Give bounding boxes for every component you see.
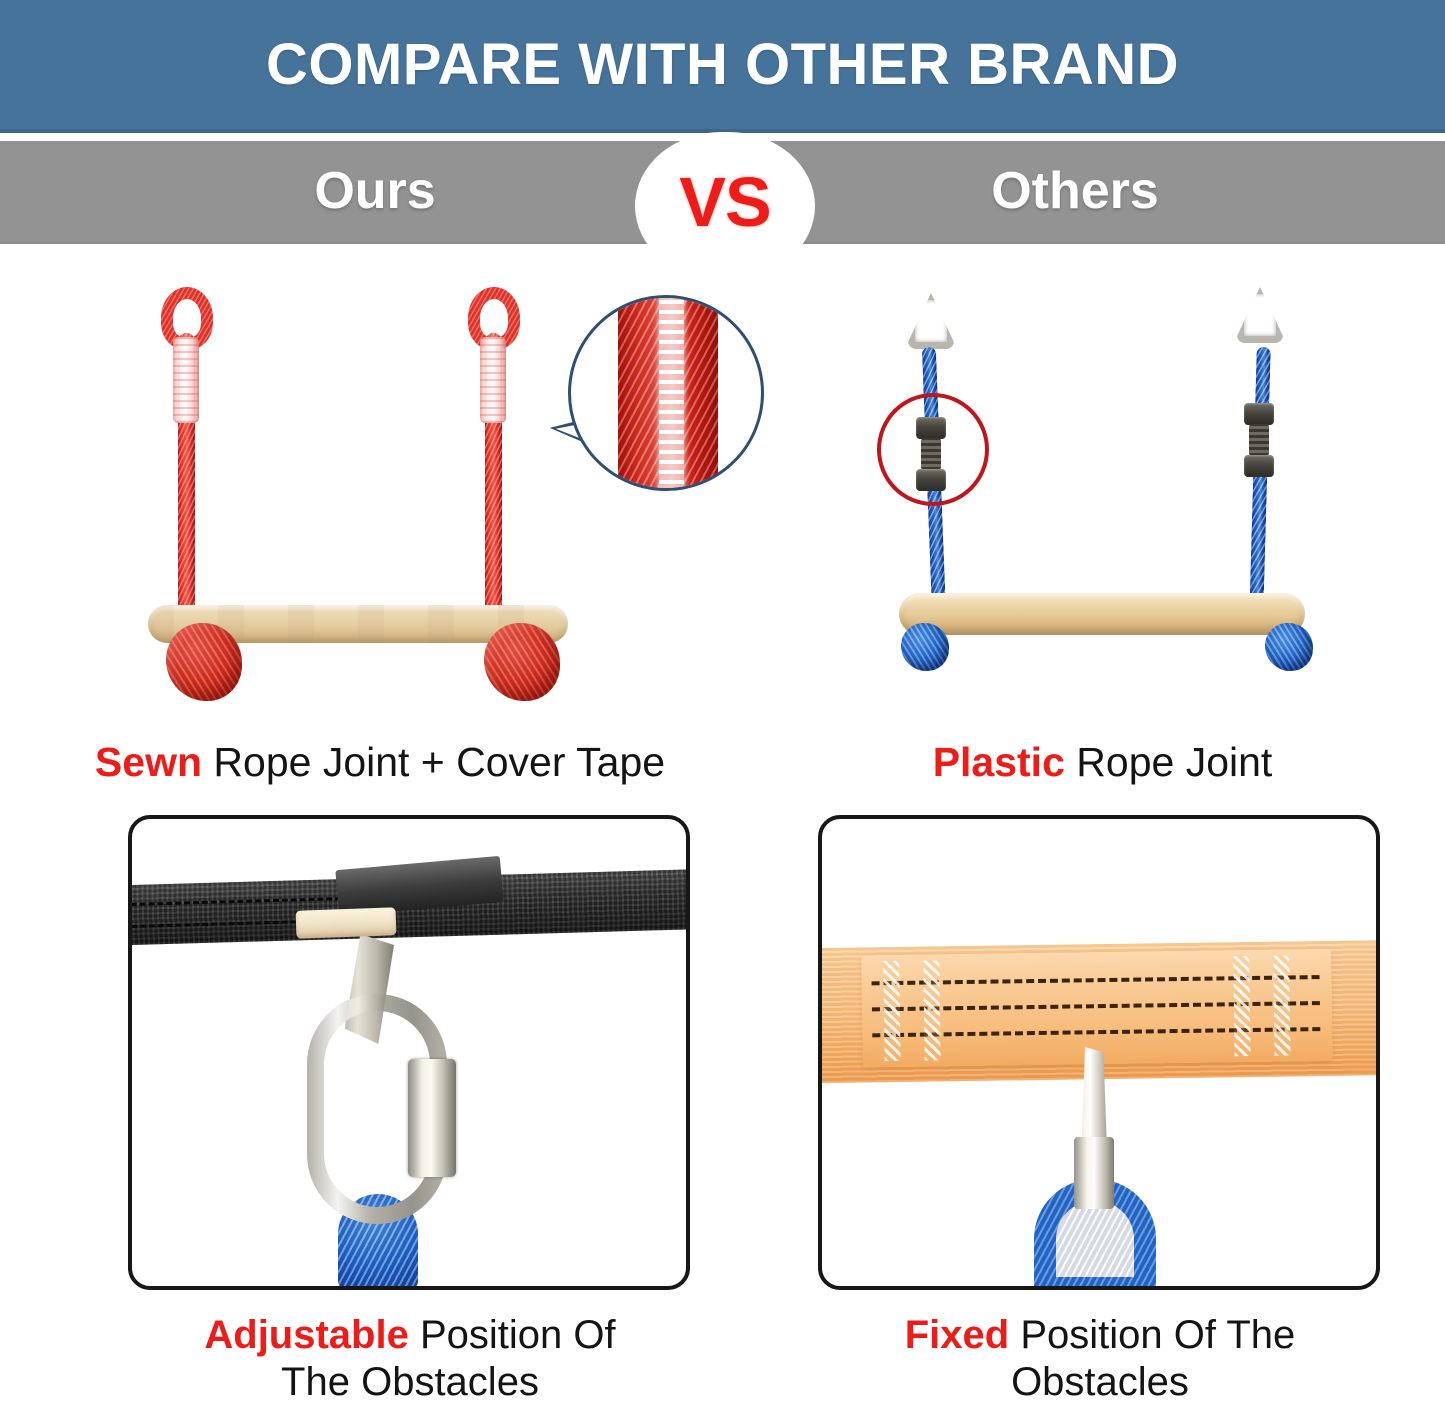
header-banner: COMPARE WITH OTHER BRAND: [0, 0, 1445, 133]
caption-others-position-line2: Obstacles: [1011, 1360, 1189, 1404]
triangle-carabiner-right: [1237, 287, 1283, 343]
blue-rope-knot-left: [901, 623, 949, 671]
caption-others-rest: Rope Joint: [1065, 739, 1272, 785]
caption-ours-rest: Rope Joint + Cover Tape: [202, 739, 665, 785]
red-circle-highlight: [877, 393, 989, 506]
column-label-others: Others: [850, 141, 1300, 241]
product-comparison-row: [0, 255, 1445, 725]
orange-zigzag-stitch-2: [923, 960, 940, 1060]
cover-tape-left: [173, 337, 199, 423]
orange-sewn-patch: [861, 949, 1333, 1068]
caption-ours-position-highlight: Adjustable: [204, 1313, 408, 1357]
cover-tape-right: [480, 337, 506, 423]
small-clip-screw-nut: [1074, 1137, 1114, 1209]
blue-rope-knot-right: [1265, 623, 1313, 671]
orange-zigzag-stitch-4: [1273, 955, 1290, 1055]
callout-stitching-detail: [659, 295, 684, 491]
others-detail-photo-panel: [818, 815, 1380, 1290]
caption-others-position-rest: Position Of The: [1009, 1313, 1295, 1357]
orange-zigzag-stitch-1: [883, 961, 900, 1061]
vs-badge: VS: [635, 132, 815, 280]
page-title: COMPARE WITH OTHER BRAND: [266, 36, 1179, 94]
callout-circle: [568, 295, 764, 491]
infographic-page: COMPARE WITH OTHER BRAND Ours Others VS: [0, 0, 1445, 1407]
column-label-ours: Ours: [150, 141, 600, 241]
caption-ours-position-rest: Position Of: [409, 1313, 616, 1357]
red-rope-knot-left: [166, 623, 242, 701]
caption-others-highlight: Plastic: [933, 739, 1065, 785]
caption-others-rope-joint: Plastic Rope Joint: [760, 740, 1445, 786]
caption-others-position-highlight: Fixed: [905, 1313, 1009, 1357]
sewn-joint-magnified-callout: [550, 295, 765, 510]
caption-others-position: Fixed Position Of The Obstacles: [810, 1312, 1390, 1406]
caption-ours-highlight: Sewn: [95, 739, 202, 785]
red-rope-knot-right: [484, 623, 560, 701]
caption-ours-position: Adjustable Position Of The Obstacles: [110, 1312, 710, 1406]
vs-label: VS: [679, 167, 770, 237]
ours-product-image: [140, 275, 760, 725]
caption-ours-position-line2: The Obstacles: [281, 1360, 539, 1404]
wooden-adjuster-peg: [296, 907, 397, 938]
triangle-carabiner-left: [908, 293, 954, 349]
wooden-bar-others: [899, 593, 1305, 635]
others-product-image: [875, 275, 1345, 725]
blue-rope-right: [1249, 347, 1271, 617]
ours-detail-photo-panel: [128, 815, 690, 1290]
orange-zigzag-stitch-3: [1233, 956, 1250, 1056]
caption-ours-rope-joint: Sewn Rope Joint + Cover Tape: [0, 740, 760, 786]
quick-link-screw-nut: [408, 1059, 456, 1177]
plastic-rope-joint-right: [1244, 403, 1274, 477]
